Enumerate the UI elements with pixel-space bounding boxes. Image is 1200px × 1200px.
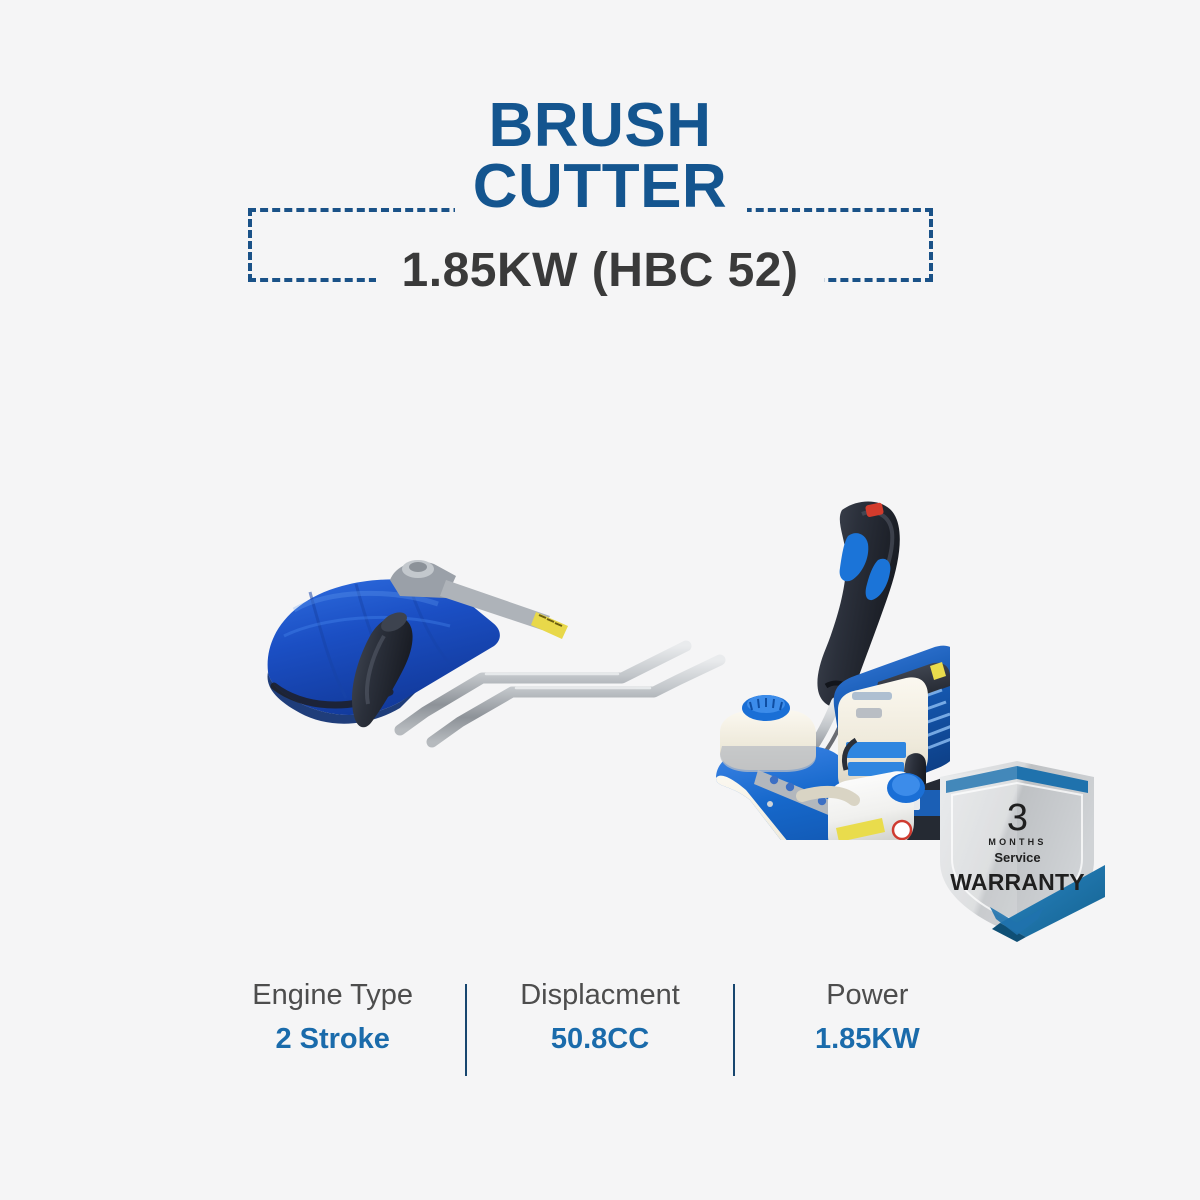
spec-label: Engine Type	[200, 980, 465, 1012]
subtitle-container: 1.85KW (HBC 52)	[0, 244, 1200, 298]
spec-engine-type: Engine Type 2 Stroke	[200, 980, 465, 1080]
spec-power: Power 1.85KW	[735, 980, 1000, 1080]
title-mask	[455, 176, 747, 242]
spec-value: 50.8CC	[467, 1024, 732, 1056]
product-image-brush-cutter	[250, 440, 950, 840]
product-model-subtitle: 1.85KW (HBC 52)	[376, 244, 825, 298]
spec-value: 1.85KW	[735, 1024, 1000, 1056]
spec-value: 2 Stroke	[200, 1024, 465, 1056]
cutter-guard	[268, 560, 568, 724]
spec-label: Power	[735, 980, 1000, 1012]
spec-row: Engine Type 2 Stroke Displacment 50.8CC …	[200, 980, 1000, 1080]
spec-displacement: Displacment 50.8CC	[467, 980, 732, 1080]
spec-label: Displacment	[467, 980, 732, 1012]
product-card: BRUSH CUTTER 1.85KW (HBC 52)	[0, 0, 1200, 1200]
title-line-brush: BRUSH	[0, 96, 1200, 157]
warranty-badge: 3 MONTHS Service WARRANTY	[930, 757, 1105, 942]
